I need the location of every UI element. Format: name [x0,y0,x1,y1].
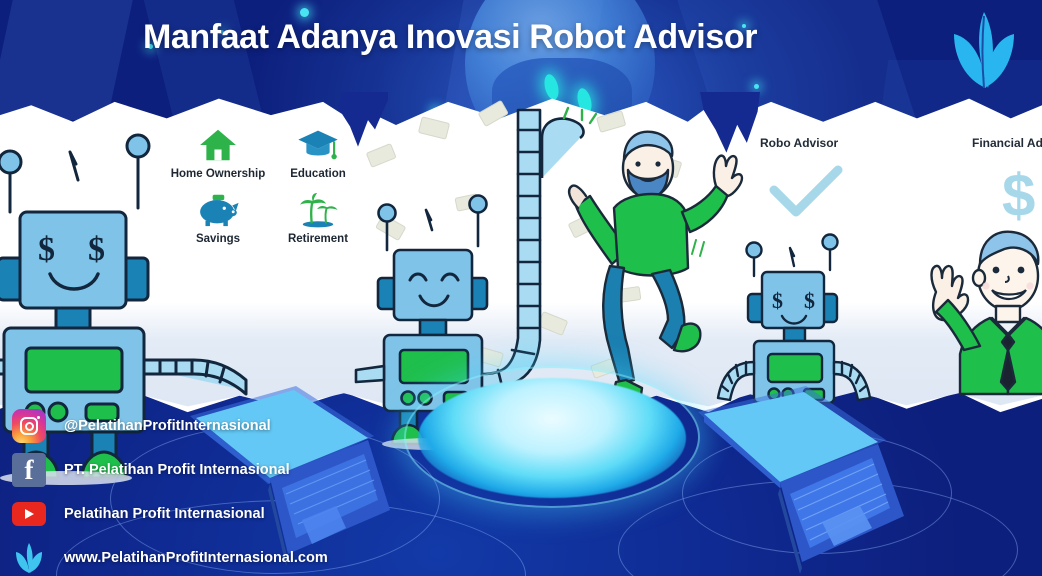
instagram-icon[interactable] [12,409,46,443]
social-links: @PelatihanProfitInternasional f PT. Pela… [12,404,482,576]
robot-dollar-eyes-icon: $ $ [706,228,906,408]
svg-text:$: $ [804,288,815,313]
dollar-sign-icon: $ [998,160,1042,230]
spark-icon [300,8,309,17]
banner-canvas: Manfaat Adanya Inovasi Robot Advisor [0,0,1042,576]
benefit-item-retirement: Retirement [266,181,370,245]
social-label-instagram: @PelatihanProfitInternasional [64,418,271,434]
benefit-label: Education [266,168,370,180]
social-label-website: www.PelatihanProfitInternasional.com [64,550,328,566]
svg-text:$: $ [772,288,783,313]
social-label-facebook: PT. Pelatihan Profit Internasional [64,462,290,478]
svg-text:$: $ [1002,162,1035,229]
lotus-logo-icon[interactable] [12,541,46,575]
benefit-label: Retirement [266,233,370,245]
page-title: Manfaat Adanya Inovasi Robot Advisor [0,18,900,57]
graduation-cap-icon [266,116,370,162]
youtube-icon[interactable] [12,497,46,531]
social-label-youtube: Pelatihan Profit Internasional [64,506,265,522]
column-label-financial-advisor: Financial Adv [972,136,1042,150]
facebook-icon[interactable]: f [12,453,46,487]
svg-text:$: $ [38,231,55,268]
checkmark-icon [768,166,844,224]
column-label-robo-advisor: Robo Advisor [760,136,838,150]
benefit-item-education: Education [266,116,370,180]
lotus-logo-icon [942,8,1026,94]
waving-businessman-icon [908,222,1042,422]
palm-tree-icon [266,181,370,227]
laptop-isometric-icon [664,396,914,576]
social-row-website[interactable]: www.PelatihanProfitInternasional.com [12,536,482,576]
robot-dollar-eyes-icon: $ $ [0,112,264,400]
svg-text:$: $ [88,231,105,268]
social-row-youtube[interactable]: Pelatihan Profit Internasional [12,492,482,536]
social-row-facebook[interactable]: f PT. Pelatihan Profit Internasional [12,448,482,492]
social-row-instagram[interactable]: @PelatihanProfitInternasional [12,404,482,448]
spark-icon [754,84,759,89]
